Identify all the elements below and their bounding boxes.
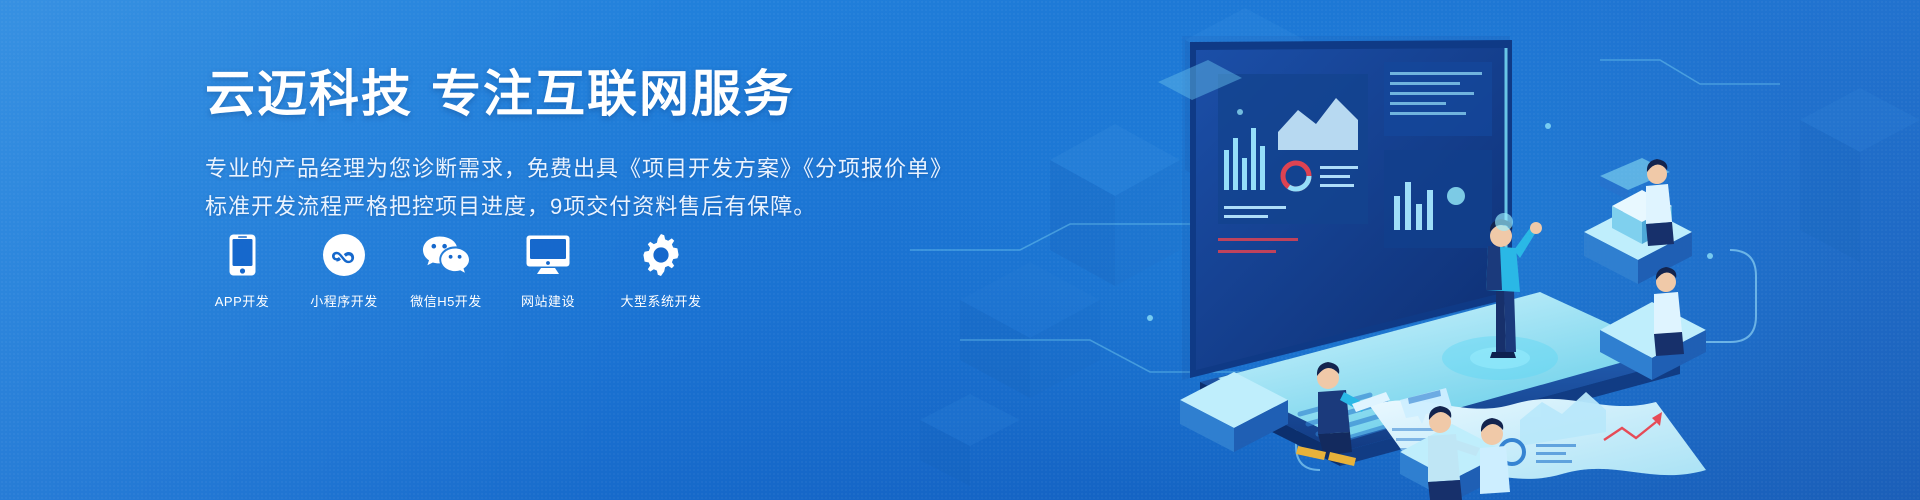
mini-program-icon: [323, 232, 365, 278]
monitor-icon: [526, 232, 570, 278]
service-label: 网站建设: [521, 291, 575, 310]
subtitle-line-1: 专业的产品经理为您诊断需求，免费出具《项目开发方案》《分项报价单》: [205, 150, 945, 188]
wechat-icon: [422, 232, 470, 278]
service-label: 大型系统开发: [620, 291, 701, 310]
service-list: APP开发 小程序开发 微信: [205, 232, 709, 310]
service-label: 小程序开发: [310, 291, 378, 310]
service-item-app[interactable]: APP开发: [205, 232, 279, 310]
subtitle-line-2: 标准开发流程严格把控项目进度，9项交付资料售后有保障。: [205, 188, 945, 226]
hero-banner: 云迈科技专注互联网服务 专业的产品经理为您诊断需求，免费出具《项目开发方案》《分…: [0, 0, 1920, 500]
hero-subtitle: 专业的产品经理为您诊断需求，免费出具《项目开发方案》《分项报价单》 标准开发流程…: [205, 150, 945, 226]
headline-tagline: 专注互联网服务: [431, 66, 795, 122]
service-label: APP开发: [215, 291, 270, 310]
person-right-podium-lower: [1654, 267, 1684, 356]
hero-illustration: [900, 0, 1920, 500]
service-item-wechat-h5[interactable]: 微信H5开发: [409, 232, 483, 310]
gear-icon: [640, 232, 682, 278]
smartphone-icon: [229, 232, 256, 278]
service-item-large-system[interactable]: 大型系统开发: [613, 232, 709, 310]
right-podiums: [1584, 190, 1706, 380]
hero-copy: 云迈科技专注互联网服务 专业的产品经理为您诊断需求，免费出具《项目开发方案》《分…: [205, 64, 945, 226]
service-label: 微信H5开发: [410, 291, 482, 310]
headline-brand: 云迈科技: [205, 66, 413, 122]
page-title: 云迈科技专注互联网服务: [205, 64, 945, 124]
service-item-website[interactable]: 网站建设: [511, 232, 585, 310]
service-item-mini-program[interactable]: 小程序开发: [307, 232, 381, 310]
